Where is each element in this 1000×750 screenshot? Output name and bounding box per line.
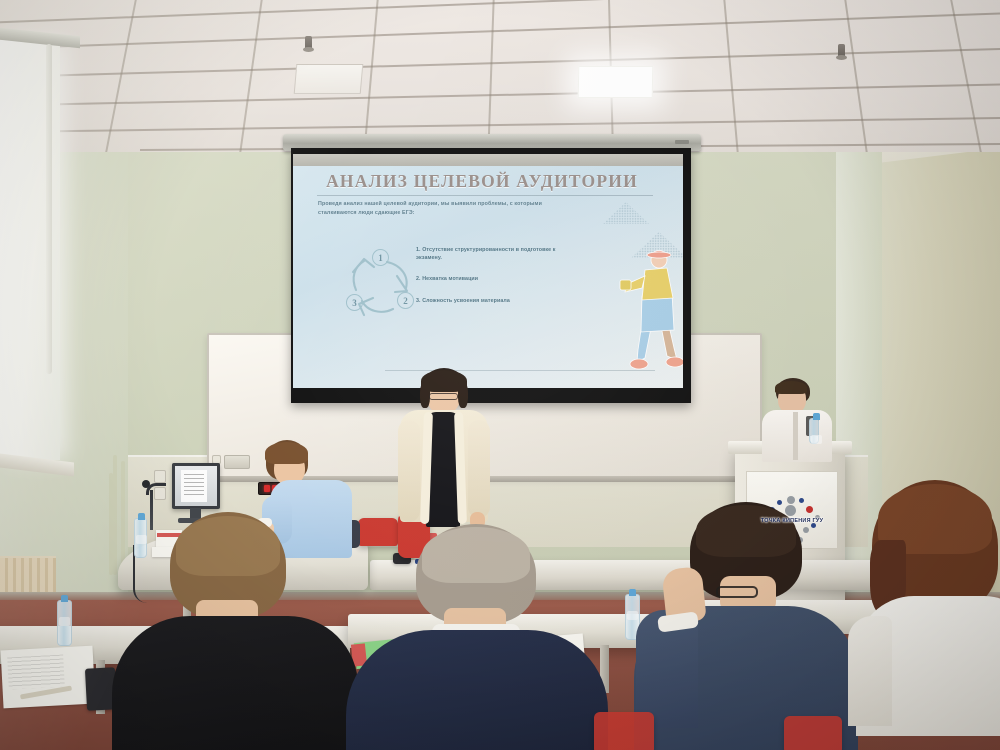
presentation-room-photo: АНАЛИЗ ЦЕЛЕВОЙ АУДИТОРИИ Проведя анализ … — [0, 0, 1000, 750]
audience-1 — [112, 512, 358, 750]
chair-icon[interactable] — [594, 712, 654, 750]
list-item: 1. Отсутствие структурированности в подг… — [416, 246, 576, 262]
eyeglasses-icon — [429, 393, 458, 400]
monitor-icon — [172, 463, 220, 509]
wall-socket-plate — [154, 470, 166, 483]
water-bottle-icon — [57, 600, 72, 646]
cycle-step-3: 3 — [346, 294, 363, 311]
suspended-ceiling — [0, 0, 1000, 152]
sprinkler-icon — [305, 36, 312, 49]
monitor-screen — [175, 466, 217, 506]
eyeglasses-icon — [716, 586, 758, 598]
slide-illustration-person-icon — [615, 240, 683, 370]
document-text-lines — [184, 474, 204, 496]
audience-3 — [634, 502, 864, 750]
slide-title: АНАЛИЗ ЦЕЛЕВОЙ АУДИТОРИИ — [317, 172, 647, 191]
cycle-diagram-icon: 1 2 3 — [343, 246, 421, 324]
audience-2 — [340, 524, 610, 750]
cycle-step-1: 1 — [372, 249, 389, 266]
presenter-standing — [396, 368, 492, 543]
halftone-triangle-icon — [603, 202, 649, 224]
projector-screen-icon: АНАЛИЗ ЦЕЛЕВОЙ АУДИТОРИИ Проведя анализ … — [283, 134, 701, 406]
microphone-arm — [146, 483, 166, 495]
slide-subtitle: Проведя анализ нашей целевой аудитории, … — [318, 200, 568, 217]
slide-title-rule — [317, 195, 653, 196]
ceiling-light-icon — [294, 64, 364, 94]
water-bottle-icon — [809, 418, 819, 444]
presenter-podium — [762, 378, 832, 460]
audience-4 — [856, 480, 1000, 750]
cycle-step-2: 2 — [397, 292, 414, 309]
ceiling-light-icon — [578, 66, 654, 98]
blind-cord[interactable] — [46, 44, 52, 374]
slide-problem-list: 1. Отсутствие структурированности в подг… — [416, 246, 576, 318]
podium-label: ТОЧКА КИПЕНИЯ ГУУ — [761, 518, 823, 524]
wall-speaker-icon — [224, 455, 250, 469]
document-text-lines — [7, 655, 65, 690]
list-item: 2. Нехватка мотивации — [416, 275, 576, 283]
sprinkler-icon — [838, 44, 845, 57]
chair-icon[interactable] — [784, 716, 842, 750]
slide-canvas: АНАЛИЗ ЦЕЛЕВОЙ АУДИТОРИИ Проведя анализ … — [293, 166, 683, 388]
list-item: 3. Сложность усвоения материала — [416, 297, 576, 305]
